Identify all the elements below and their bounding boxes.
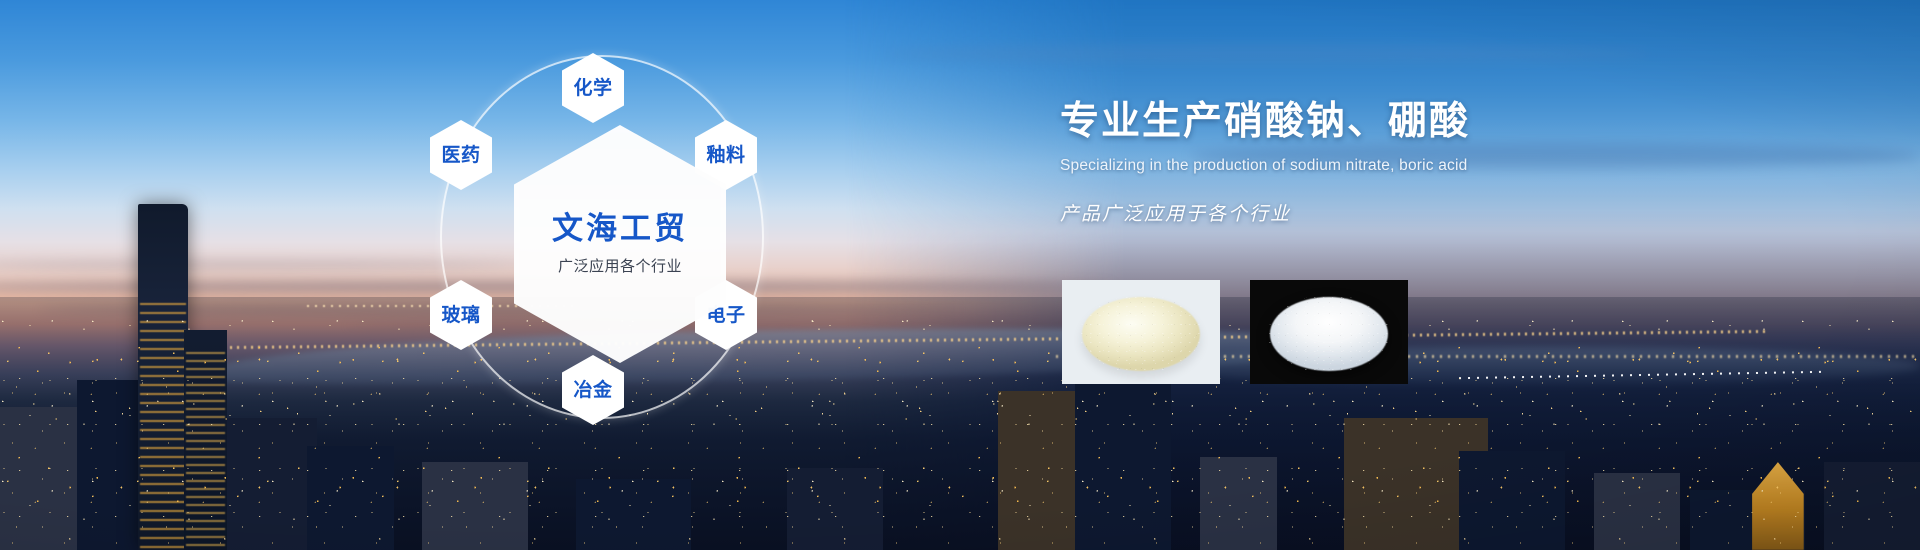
hero-banner: 化学 釉料 电子 冶金 玻璃 医药 文海工贸 广泛应用各个行业 专业生产硝酸钠、… — [0, 0, 1920, 550]
product-photo-boric-acid[interactable] — [1250, 280, 1408, 384]
powder-grain-texture — [1080, 295, 1202, 373]
product-photo-gallery — [1062, 280, 1408, 384]
cloud-streak — [883, 44, 1651, 64]
hex-node-label: 玻璃 — [441, 306, 480, 325]
hex-node-label: 化学 — [573, 79, 612, 98]
banner-tagline: 产品广泛应用于各个行业 — [1060, 199, 1620, 226]
industry-hex-diagram: 化学 釉料 电子 冶金 玻璃 医药 文海工贸 广泛应用各个行业 — [430, 25, 810, 445]
company-tagline: 广泛应用各个行业 — [558, 255, 682, 276]
banner-copy: 专业生产硝酸钠、硼酸 Specializing in the productio… — [1060, 100, 1620, 226]
hex-node-label: 釉料 — [706, 146, 745, 165]
headline-chinese: 专业生产硝酸钠、硼酸 — [1060, 100, 1620, 145]
powder-grain-texture — [1268, 295, 1390, 373]
product-photo-sodium-nitrate[interactable] — [1062, 280, 1220, 384]
hex-node-label: 冶金 — [573, 381, 612, 400]
hex-node-label: 医药 — [441, 146, 480, 165]
headline-english: Specializing in the production of sodium… — [1060, 157, 1620, 175]
company-name: 文海工贸 — [552, 212, 688, 246]
city-window-lights — [0, 363, 1920, 550]
